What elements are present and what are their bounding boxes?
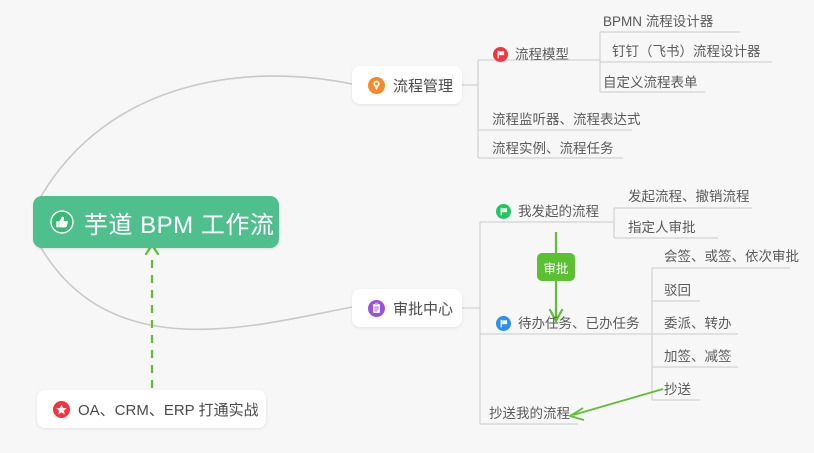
branch-label-liucheng-guanli: 流程管理 — [393, 75, 453, 96]
leaf-label-faqi-chexiao: 发起流程、撤销流程 — [628, 189, 750, 204]
leaf-chaosong-wo-de-liucheng[interactable]: 抄送我的流程 — [489, 407, 570, 421]
arrowhead-chaosong — [570, 408, 584, 420]
branch-label-shenpi-zhongxin: 审批中心 — [393, 298, 453, 319]
leaf-daiban-yiban-renwu[interactable]: 待办任务、已办任务 — [496, 316, 640, 331]
leaf-label-jiaqian-jianqian: 加签、减签 — [664, 349, 732, 364]
leaf-label-liucheng-moxing: 流程模型 — [515, 48, 569, 62]
leaf-faqi-chexiao[interactable]: 发起流程、撤销流程 — [628, 190, 750, 204]
leaf-bohui[interactable]: 驳回 — [664, 284, 691, 298]
leaf-zhidingren-shenpi[interactable]: 指定人审批 — [628, 221, 696, 235]
connector-root-to-shenpi-zhongxin — [40, 246, 352, 329]
leaf-bpmn-designer[interactable]: BPMN 流程设计器 — [603, 15, 713, 29]
leaf-label-chaosong-wo-de-liucheng: 抄送我的流程 — [489, 406, 570, 421]
flag-green-icon — [496, 204, 511, 219]
leaf-wo-faqi-de-liucheng[interactable]: 我发起的流程 — [496, 204, 599, 219]
branch-node-shenpi-zhongxin[interactable]: 审批中心 — [352, 289, 462, 327]
leaf-label-bohui: 驳回 — [664, 283, 691, 298]
star-icon — [53, 401, 70, 418]
leaf-listener-expression[interactable]: 流程监听器、流程表达式 — [492, 113, 641, 127]
flag-red-icon — [493, 47, 508, 62]
leaf-label-dingding-designer: 钉钉（飞书）流程设计器 — [612, 44, 761, 59]
mindmap-canvas: 芋道 BPM 工作流 流程管理 流程模型 BPMN 流程设计器 钉钉（飞书）流程… — [0, 0, 814, 453]
leaf-label-daiban-yiban-renwu: 待办任务、已办任务 — [518, 317, 640, 331]
leaf-instance-task[interactable]: 流程实例、流程任务 — [492, 142, 614, 156]
callout-badge-shenpi[interactable]: 审批 — [537, 253, 575, 281]
root-node[interactable]: 芋道 BPM 工作流 — [33, 196, 279, 248]
note-node-oa-crm-erp[interactable]: OA、CRM、ERP 打通实战 — [37, 390, 266, 428]
leaf-jiaqian-jianqian[interactable]: 加签、减签 — [664, 350, 732, 364]
leaf-dingding-designer[interactable]: 钉钉（飞书）流程设计器 — [612, 45, 761, 59]
leaf-label-listener-expression: 流程监听器、流程表达式 — [492, 112, 641, 127]
leaf-chaosong[interactable]: 抄送 — [664, 383, 691, 397]
location-pin-icon — [368, 77, 385, 94]
arrow-chaosong — [573, 389, 663, 415]
leaf-custom-form[interactable]: 自定义流程表单 — [603, 76, 698, 90]
leaf-label-zhidingren-shenpi: 指定人审批 — [628, 220, 696, 235]
flag-blue-icon — [496, 316, 511, 331]
leaf-weipai-zhuanban[interactable]: 委派、转办 — [664, 317, 732, 331]
note-label-oa-crm-erp: OA、CRM、ERP 打通实战 — [78, 399, 259, 420]
clipboard-purple-icon — [368, 300, 385, 317]
leaf-label-chaosong: 抄送 — [664, 382, 691, 397]
leaf-label-bpmn-designer: BPMN 流程设计器 — [603, 14, 713, 29]
leaf-liucheng-moxing[interactable]: 流程模型 — [493, 47, 569, 62]
leaf-label-wo-faqi-de-liucheng: 我发起的流程 — [518, 205, 599, 219]
thumbs-up-icon — [49, 209, 75, 235]
connector-root-to-liucheng-guanli — [40, 76, 352, 198]
leaf-label-custom-form: 自定义流程表单 — [603, 75, 698, 90]
leaf-huiqian-huoqian[interactable]: 会签、或签、依次审批 — [664, 250, 799, 264]
branch-node-liucheng-guanli[interactable]: 流程管理 — [352, 66, 462, 104]
leaf-label-huiqian-huoqian: 会签、或签、依次审批 — [664, 249, 799, 264]
leaf-label-instance-task: 流程实例、流程任务 — [492, 141, 614, 156]
root-label: 芋道 BPM 工作流 — [84, 205, 274, 240]
leaf-label-weipai-zhuanban: 委派、转办 — [664, 316, 732, 331]
callout-badge-label: 审批 — [543, 258, 568, 277]
